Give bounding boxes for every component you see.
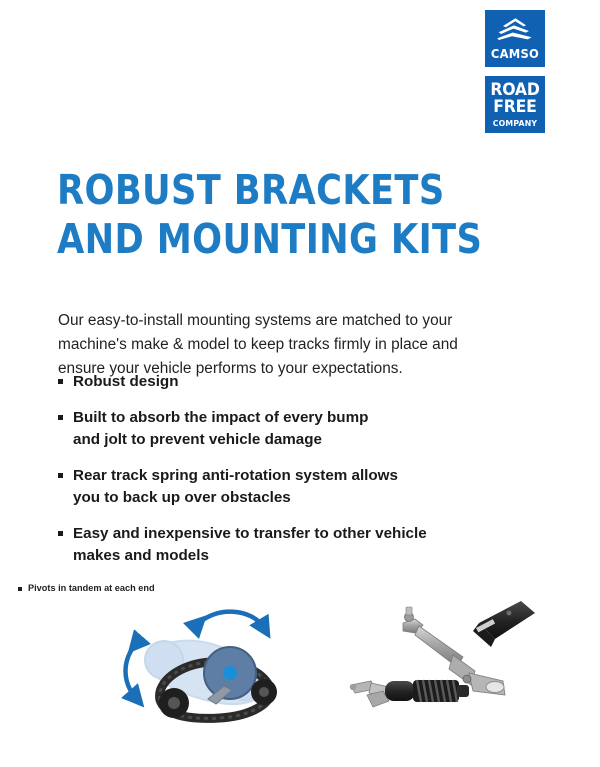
- camso-chevron-mark-icon: [496, 17, 534, 41]
- pivot-arrow-left: [126, 644, 137, 698]
- intro-paragraph: Our easy-to-install mounting systems are…: [58, 309, 528, 380]
- footnote-text: Pivots in tandem at each end: [28, 583, 155, 593]
- spring-damper: [350, 680, 469, 707]
- feature-list: Robust design Built to absorb the impact…: [58, 371, 538, 581]
- mounting-bracket-parts-photo: [345, 595, 540, 725]
- list-item: Built to absorb the impact of every bump…: [58, 407, 538, 452]
- square-bullet-icon: [58, 531, 63, 536]
- square-bullet-icon: [58, 415, 63, 420]
- square-bullet-icon: [58, 473, 63, 478]
- square-bullet-icon: [18, 587, 22, 591]
- list-item-line: Easy and inexpensive to transfer to othe…: [73, 523, 538, 546]
- page-title-line-1: ROBUST BRACKETS: [57, 166, 461, 214]
- camso-logo: CAMSO: [485, 10, 545, 67]
- mounting-rail: [473, 601, 535, 647]
- intro-line-1: Our easy-to-install mounting systems are…: [58, 309, 528, 333]
- road-free-line-2: FREE: [487, 99, 544, 116]
- footnote: Pivots in tandem at each end: [18, 583, 155, 594]
- coil-spring: [413, 680, 459, 702]
- pivot-arrow-top: [198, 612, 264, 628]
- road-free-line-3: COMPANY: [487, 119, 544, 127]
- list-item-line: Robust design: [73, 371, 538, 394]
- list-item: Rear track spring anti-rotation system a…: [58, 465, 538, 510]
- camso-wordmark: CAMSO: [487, 48, 542, 61]
- list-item: Easy and inexpensive to transfer to othe…: [58, 523, 538, 568]
- brand-logo-stack: CAMSO ROAD FREE COMPANY: [485, 10, 545, 133]
- list-item-line: and jolt to prevent vehicle damage: [73, 429, 538, 452]
- list-item-line: Built to absorb the impact of every bump: [73, 407, 538, 430]
- intro-line-2: machine's make & model to keep tracks fi…: [58, 333, 528, 357]
- page-title: ROBUST BRACKETS AND MOUNTING KITS: [57, 166, 461, 263]
- list-item-line: makes and models: [73, 545, 538, 568]
- list-item-line: Rear track spring anti-rotation system a…: [73, 465, 538, 488]
- list-item-line: you to back up over obstacles: [73, 487, 538, 510]
- square-bullet-icon: [58, 379, 63, 384]
- road-free-company-logo: ROAD FREE COMPANY: [485, 76, 545, 133]
- rubber-track-system-diagram: [112, 600, 327, 735]
- page-title-line-2: AND MOUNTING KITS: [57, 215, 461, 263]
- list-item: Robust design: [58, 371, 538, 394]
- road-free-lines: ROAD FREE COMPANY: [485, 82, 545, 127]
